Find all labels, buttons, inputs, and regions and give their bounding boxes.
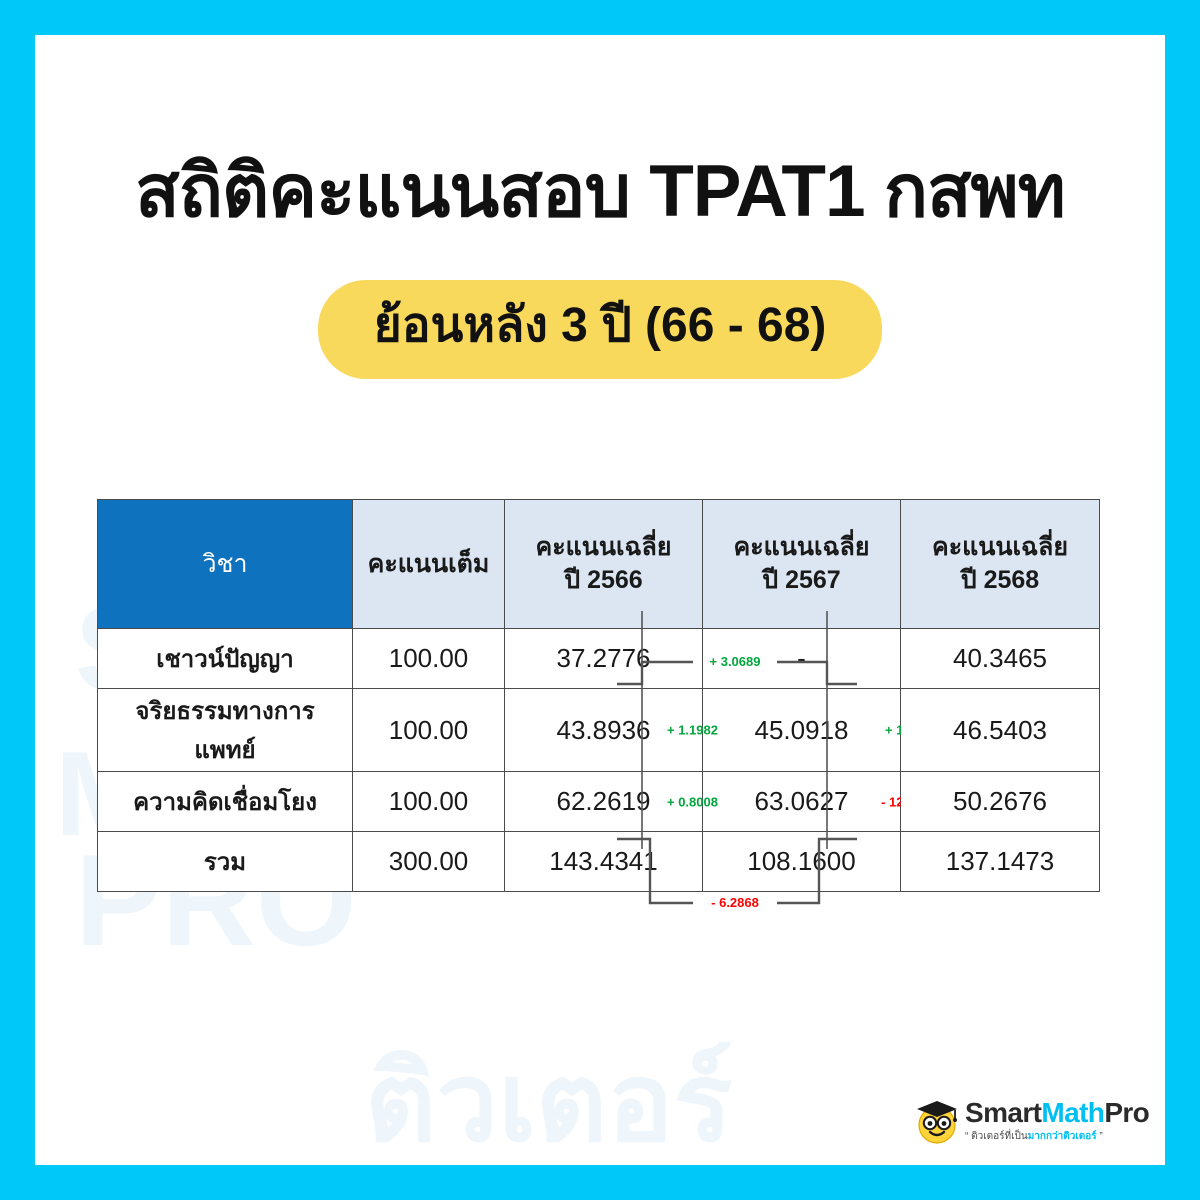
cell-avg-2567: 45.0918 + 1.1982 + 1.4485 <box>703 689 901 772</box>
logo-tagline-highlight: มากกว่าติวเตอร์ <box>1028 1131 1097 1142</box>
cell-full-score: 300.00 <box>353 832 505 892</box>
stats-table: วิชา คะแนนเต็ม คะแนนเฉลี่ย ปี 2566 คะแนน… <box>97 499 1100 892</box>
col-header-avg-2566-line1: คะแนนเฉลี่ย <box>511 531 696 564</box>
cell-avg-2568: 137.1473 <box>901 832 1100 892</box>
table-row: เชาวน์ปัญญา 100.00 37.2776 - 40.3465 <box>98 629 1100 689</box>
table-row: รวม 300.00 143.4341 108.1600 137.1473 <box>98 832 1100 892</box>
col-header-avg-2566-line2: ปี 2566 <box>511 564 696 597</box>
cell-avg-2567-value: 45.0918 <box>755 715 849 745</box>
logo-tagline-prefix: “ ติวเตอร์ที่เป็น <box>965 1131 1028 1142</box>
cell-avg-2568: 46.5403 <box>901 689 1100 772</box>
logo-text-block: SmartMathPro “ ติวเตอร์ที่เป็นมากกว่าติว… <box>965 1099 1149 1142</box>
cell-subject: เชาวน์ปัญญา <box>98 629 353 689</box>
col-header-avg-2567-line1: คะแนนเฉลี่ย <box>709 531 894 564</box>
cell-avg-2567: - <box>703 629 901 689</box>
logo-word-math: Math <box>1041 1097 1104 1128</box>
cell-full-score: 100.00 <box>353 629 505 689</box>
brand-logo: SmartMathPro “ ติวเตอร์ที่เป็นมากกว่าติว… <box>897 1075 1165 1165</box>
col-header-avg-2566: คะแนนเฉลี่ย ปี 2566 <box>505 500 703 629</box>
cell-subject: ความคิดเชื่อมโยง <box>98 772 353 832</box>
cell-subject: รวม <box>98 832 353 892</box>
col-header-subject: วิชา <box>98 500 353 629</box>
col-header-avg-2567-line2: ปี 2567 <box>709 564 894 597</box>
cell-subject: จริยธรรมทางการแพทย์ <box>98 689 353 772</box>
col-header-avg-2568: คะแนนเฉลี่ย ปี 2568 <box>901 500 1100 629</box>
stats-table-container: วิชา คะแนนเต็ม คะแนนเฉลี่ย ปี 2566 คะแนน… <box>97 499 1099 892</box>
cell-avg-2567: 108.1600 <box>703 832 901 892</box>
table-row: ความคิดเชื่อมโยง 100.00 62.2619 63.0627 … <box>98 772 1100 832</box>
table-header-row: วิชา คะแนนเต็ม คะแนนเฉลี่ย ปี 2566 คะแนน… <box>98 500 1100 629</box>
col-header-avg-2568-line2: ปี 2568 <box>907 564 1093 597</box>
watermark-tutor: ติวเตอร์ <box>365 1015 732 1165</box>
logo-word-pro: Pro <box>1104 1097 1149 1128</box>
col-header-full-score: คะแนนเต็ม <box>353 500 505 629</box>
logo-tagline-suffix: ” <box>1097 1131 1103 1142</box>
table-row: จริยธรรมทางการแพทย์ 100.00 43.8936 45.09… <box>98 689 1100 772</box>
col-header-avg-2568-line1: คะแนนเฉลี่ย <box>907 531 1093 564</box>
cell-full-score: 100.00 <box>353 689 505 772</box>
delta-2566-to-2567: + 0.8008 <box>667 794 718 809</box>
cell-avg-2568: 50.2676 <box>901 772 1100 832</box>
col-header-avg-2567: คะแนนเฉลี่ย ปี 2567 <box>703 500 901 629</box>
cell-avg-2568: 40.3465 <box>901 629 1100 689</box>
table-body: เชาวน์ปัญญา 100.00 37.2776 - 40.3465 จริ… <box>98 629 1100 892</box>
cell-avg-2566: 143.4341 <box>505 832 703 892</box>
table-head: วิชา คะแนนเต็ม คะแนนเฉลี่ย ปี 2566 คะแนน… <box>98 500 1100 629</box>
bracket-label-total: - 6.2868 <box>711 895 759 910</box>
logo-wordmark: SmartMathPro <box>965 1099 1149 1127</box>
subtitle-container: ย้อนหลัง 3 ปี (66 - 68) <box>35 280 1165 379</box>
delta-2566-to-2567: + 1.1982 <box>667 723 718 738</box>
page-title: สถิติคะแนนสอบ TPAT1 กสพท <box>35 150 1165 234</box>
logo-tagline: “ ติวเตอร์ที่เป็นมากกว่าติวเตอร์ ” <box>965 1132 1149 1142</box>
poster-page: SMART MATH PRO ติวเตอร์ สถิติคะแนนสอบ TP… <box>0 0 1200 1200</box>
cell-avg-2567: 63.0627 + 0.8008 - 12.7951 <box>703 772 901 832</box>
cell-avg-2566: 37.2776 <box>505 629 703 689</box>
cell-full-score: 100.00 <box>353 772 505 832</box>
logo-word-smart: Smart <box>965 1097 1041 1128</box>
cell-avg-2567-value: 63.0627 <box>755 786 849 816</box>
poster-canvas: SMART MATH PRO ติวเตอร์ สถิติคะแนนสอบ TP… <box>35 35 1165 1165</box>
subtitle-badge: ย้อนหลัง 3 ปี (66 - 68) <box>318 280 883 379</box>
graduate-emoji-icon <box>911 1094 963 1146</box>
